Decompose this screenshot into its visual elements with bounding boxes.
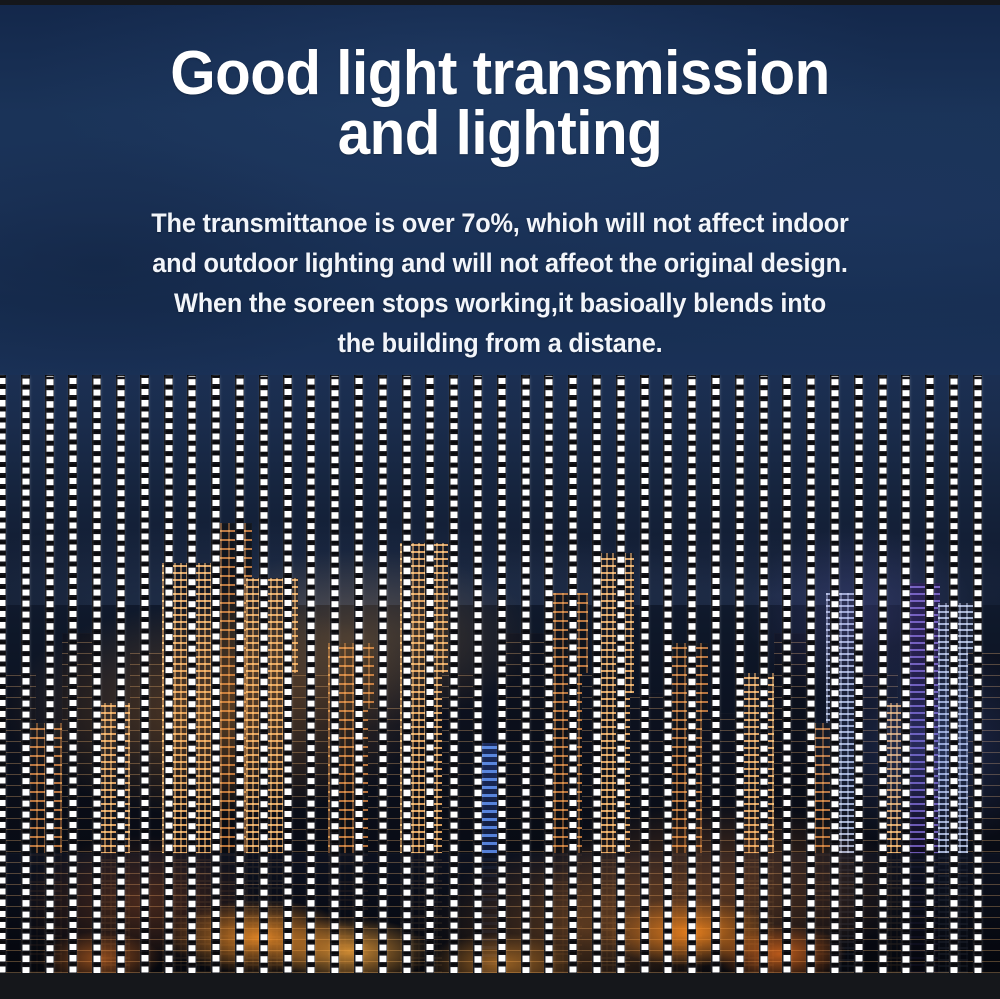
city-skyline-photo	[0, 375, 1000, 973]
street-level-neon	[0, 853, 1000, 973]
hero-panel: Good light transmission and lighting The…	[0, 0, 1000, 378]
hero-content: Good light transmission and lighting The…	[0, 0, 1000, 378]
hero-subtitle: The transmittanoe is over 7o%, whioh wil…	[23, 203, 978, 363]
page-title: Good light transmission and lighting	[30, 44, 970, 164]
poster-root: Good light transmission and lighting The…	[0, 0, 1000, 999]
bottom-black-bar	[0, 973, 1000, 999]
top-black-bar	[0, 0, 1000, 5]
